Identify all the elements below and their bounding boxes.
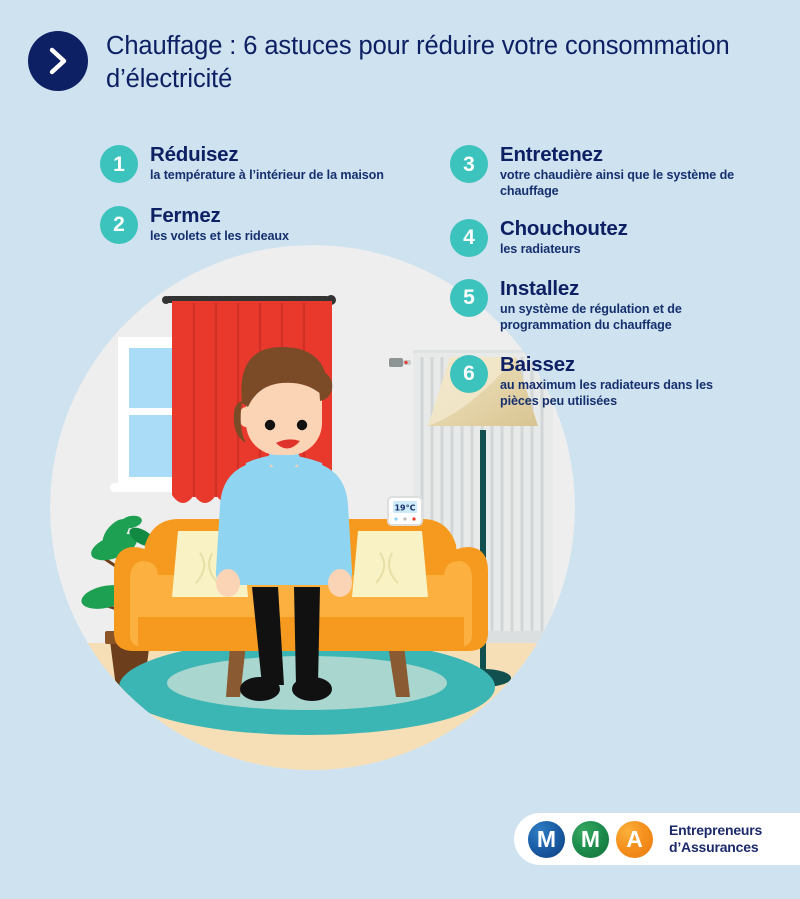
tip-title: Chouchoutez bbox=[500, 218, 628, 240]
mma-logo-tagline-line1: Entrepreneurs bbox=[669, 822, 762, 839]
mma-logo-tagline: Entrepreneurs d’Assurances bbox=[669, 822, 762, 855]
mma-logo-circle-blue: M bbox=[528, 821, 565, 858]
tip-number-badge: 6 bbox=[450, 355, 488, 393]
svg-text:19°C: 19°C bbox=[394, 504, 415, 513]
tip-number-badge: 1 bbox=[100, 145, 138, 183]
tips-column-right: 3 Entretenez votre chaudière ainsi que l… bbox=[450, 144, 750, 424]
tip-title: Installez bbox=[500, 278, 750, 300]
tips-column-left: 1 Réduisez la température à l’intérieur … bbox=[100, 144, 430, 259]
header: Chauffage : 6 astuces pour réduire votre… bbox=[28, 28, 768, 95]
tip-number-badge: 5 bbox=[450, 279, 488, 317]
tip-title: Réduisez bbox=[150, 144, 384, 166]
tip-subtitle: les radiateurs bbox=[500, 242, 628, 258]
cushion-right bbox=[352, 531, 428, 597]
tip-subtitle: au maximum les radiateurs dans les pièce… bbox=[500, 378, 750, 410]
tip-item: 6 Baissez au maximum les radiateurs dans… bbox=[450, 354, 750, 410]
mma-logo-tagline-line2: d’Assurances bbox=[669, 839, 762, 856]
mma-logo-circle-green: M bbox=[572, 821, 609, 858]
tip-item: 5 Installez un système de régulation et … bbox=[450, 278, 750, 334]
page-title: Chauffage : 6 astuces pour réduire votre… bbox=[106, 28, 768, 95]
tip-title: Baissez bbox=[500, 354, 750, 376]
tip-item: 4 Chouchoutez les radiateurs bbox=[450, 218, 750, 258]
tip-subtitle: les volets et les rideaux bbox=[150, 229, 289, 245]
tip-number-badge: 4 bbox=[450, 219, 488, 257]
tip-item: 2 Fermez les volets et les rideaux bbox=[100, 205, 430, 245]
mma-logo-circle-orange: A bbox=[616, 821, 653, 858]
infographic-page: Chauffage : 6 astuces pour réduire votre… bbox=[0, 0, 800, 899]
tip-subtitle: la température à l’intérieur de la maiso… bbox=[150, 168, 384, 184]
tip-number-badge: 2 bbox=[100, 206, 138, 244]
thermostat: 19°C bbox=[388, 497, 422, 525]
tip-number-badge: 3 bbox=[450, 145, 488, 183]
tip-title: Fermez bbox=[150, 205, 289, 227]
chevron-right-icon bbox=[28, 31, 88, 91]
tip-title: Entretenez bbox=[500, 144, 750, 166]
tip-item: 1 Réduisez la température à l’intérieur … bbox=[100, 144, 430, 184]
tip-subtitle: votre chaudière ainsi que le système de … bbox=[500, 168, 750, 200]
mma-logo-plate: M M A Entrepreneurs d’Assurances bbox=[514, 813, 800, 865]
tip-subtitle: un système de régulation et de programma… bbox=[500, 302, 750, 334]
tip-item: 3 Entretenez votre chaudière ainsi que l… bbox=[450, 144, 750, 200]
